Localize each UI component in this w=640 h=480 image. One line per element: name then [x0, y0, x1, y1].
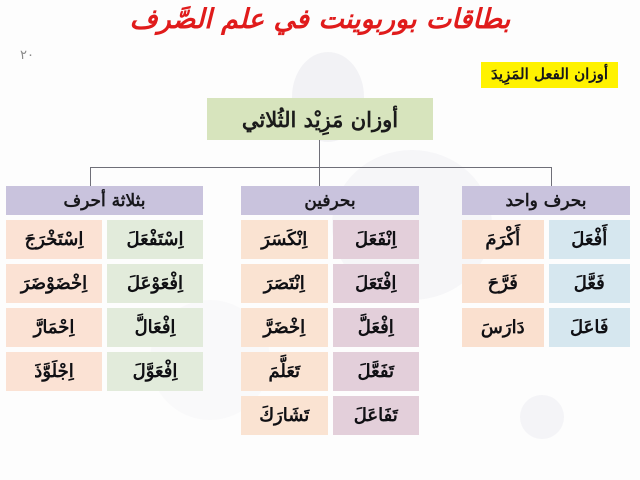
topic-badge: أوزان الفعل المَزِيدَ: [481, 62, 618, 88]
category-column-one-letter: بحرف واحد أَفْعَلَ أَكْرَمَ فَعَّلَ فَرَ…: [462, 186, 630, 352]
connector-crossbar: [90, 167, 552, 168]
pattern-cell: تَفَعَّلَ: [333, 352, 420, 391]
background-watermark: [520, 395, 564, 439]
example-cell: اِسْتَخْرَجَ: [6, 220, 102, 259]
root-node-title: أوزان مَزِيْد الثُلاثي: [207, 98, 433, 140]
example-cell: اِخْضَرَّ: [241, 308, 328, 347]
table-row: اِفْعَوْعَلَ اِخْضَوْضَرَ: [6, 264, 203, 303]
page-number: ٢٠: [20, 48, 34, 63]
example-cell: تَعَلَّمَ: [241, 352, 328, 391]
table-row: اِنْفَعَلَ اِنْكَسَرَ: [241, 220, 419, 259]
pattern-cell: اِفْتَعَلَ: [333, 264, 420, 303]
pattern-cell: اِفْعَوَّلَ: [107, 352, 203, 391]
table-row: اِفْعَلَّ اِخْضَرَّ: [241, 308, 419, 347]
pattern-cell: اِنْفَعَلَ: [333, 220, 420, 259]
column-rows-three-letters: اِسْتَفْعَلَ اِسْتَخْرَجَ اِفْعَوْعَلَ ا…: [6, 220, 203, 391]
pattern-cell: فَاعَلَ: [549, 308, 631, 347]
column-header-one-letter: بحرف واحد: [462, 186, 630, 215]
example-cell: اِخْضَوْضَرَ: [6, 264, 102, 303]
example-cell: تَشَارَكَ: [241, 396, 328, 435]
connector-drop-middle: [319, 167, 320, 186]
table-row: اِفْتَعَلَ اِنْتَصَرَ: [241, 264, 419, 303]
connector-stem: [319, 140, 320, 168]
connector-drop-right: [551, 167, 552, 186]
pattern-cell: فَعَّلَ: [549, 264, 631, 303]
slide-canvas: بطاقات بوربوينت في علم الصَّرف ٢٠ أوزان …: [0, 0, 640, 480]
category-column-two-letters: بحرفين اِنْفَعَلَ اِنْكَسَرَ اِفْتَعَلَ …: [241, 186, 419, 440]
pattern-cell: اِسْتَفْعَلَ: [107, 220, 203, 259]
table-row: أَفْعَلَ أَكْرَمَ: [462, 220, 630, 259]
column-rows-two-letters: اِنْفَعَلَ اِنْكَسَرَ اِفْتَعَلَ اِنْتَص…: [241, 220, 419, 435]
table-row: تَفَعَّلَ تَعَلَّمَ: [241, 352, 419, 391]
pattern-cell: اِفْعَوْعَلَ: [107, 264, 203, 303]
pattern-cell: اِفْعَلَّ: [333, 308, 420, 347]
table-row: فَعَّلَ فَرَّحَ: [462, 264, 630, 303]
column-rows-one-letter: أَفْعَلَ أَكْرَمَ فَعَّلَ فَرَّحَ فَاعَل…: [462, 220, 630, 347]
slide-title: بطاقات بوربوينت في علم الصَّرف: [0, 4, 640, 35]
table-row: اِفْعَوَّلَ اِجْلَوَّذَ: [6, 352, 203, 391]
table-row: اِسْتَفْعَلَ اِسْتَخْرَجَ: [6, 220, 203, 259]
pattern-cell: اِفْعَالَّ: [107, 308, 203, 347]
table-row: تَفَاعَلَ تَشَارَكَ: [241, 396, 419, 435]
column-header-two-letters: بحرفين: [241, 186, 419, 215]
column-header-three-letters: بثلاثة أحرف: [6, 186, 203, 215]
example-cell: اِجْلَوَّذَ: [6, 352, 102, 391]
connector-drop-left: [90, 167, 91, 186]
pattern-cell: أَفْعَلَ: [549, 220, 631, 259]
example-cell: أَكْرَمَ: [462, 220, 544, 259]
example-cell: فَرَّحَ: [462, 264, 544, 303]
example-cell: اِنْتَصَرَ: [241, 264, 328, 303]
example-cell: دَارَسَ: [462, 308, 544, 347]
example-cell: اِحْمَارَّ: [6, 308, 102, 347]
pattern-cell: تَفَاعَلَ: [333, 396, 420, 435]
table-row: اِفْعَالَّ اِحْمَارَّ: [6, 308, 203, 347]
example-cell: اِنْكَسَرَ: [241, 220, 328, 259]
category-column-three-letters: بثلاثة أحرف اِسْتَفْعَلَ اِسْتَخْرَجَ اِ…: [6, 186, 203, 396]
table-row: فَاعَلَ دَارَسَ: [462, 308, 630, 347]
